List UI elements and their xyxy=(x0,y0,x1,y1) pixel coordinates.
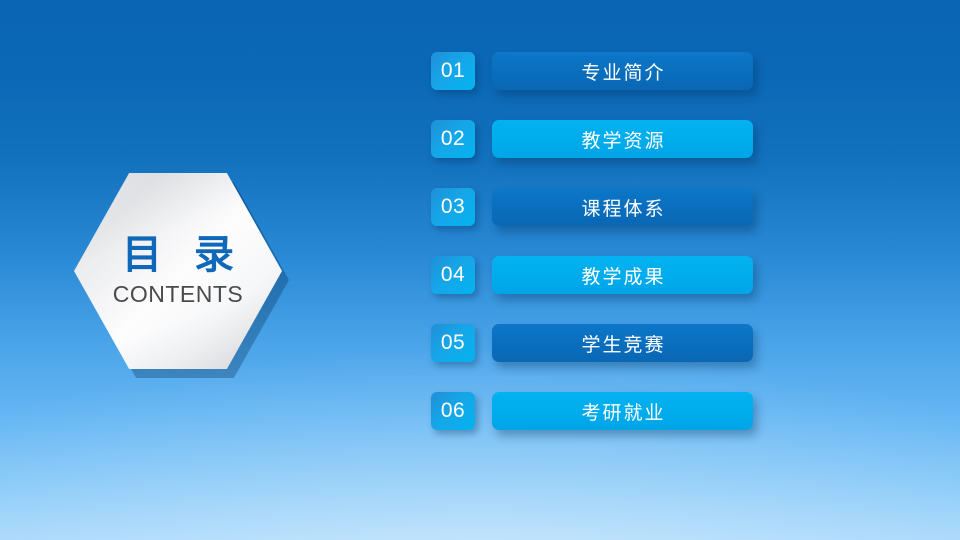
slide-canvas: 目 录 CONTENTS 01 专业简介 02 教学资源 03 课程体系 04 … xyxy=(0,0,960,540)
toc-row[interactable]: 06 考研就业 xyxy=(431,392,761,430)
hexagon-text-group: 目 录 CONTENTS xyxy=(74,170,282,372)
toc-number-badge[interactable]: 04 xyxy=(431,256,475,294)
toc-number-badge[interactable]: 06 xyxy=(431,392,475,430)
toc-number-badge[interactable]: 02 xyxy=(431,120,475,158)
contents-title-cn: 目 录 xyxy=(113,234,243,276)
toc-item-bar[interactable]: 教学资源 xyxy=(492,120,753,158)
toc-row[interactable]: 02 教学资源 xyxy=(431,120,761,158)
contents-title-en: CONTENTS xyxy=(113,282,244,307)
toc-item-bar[interactable]: 学生竞赛 xyxy=(492,324,753,362)
toc-item-bar[interactable]: 课程体系 xyxy=(492,188,753,226)
toc-item-bar[interactable]: 教学成果 xyxy=(492,256,753,294)
toc-row[interactable]: 01 专业简介 xyxy=(431,52,761,90)
toc-row[interactable]: 04 教学成果 xyxy=(431,256,761,294)
toc-number-badge[interactable]: 05 xyxy=(431,324,475,362)
contents-hexagon-badge: 目 录 CONTENTS xyxy=(74,170,282,372)
toc-row[interactable]: 03 课程体系 xyxy=(431,188,761,226)
toc-item-bar[interactable]: 考研就业 xyxy=(492,392,753,430)
toc-row[interactable]: 05 学生竞赛 xyxy=(431,324,761,362)
toc-number-badge[interactable]: 01 xyxy=(431,52,475,90)
toc-item-bar[interactable]: 专业简介 xyxy=(492,52,753,90)
toc-number-badge[interactable]: 03 xyxy=(431,188,475,226)
table-of-contents-list: 01 专业简介 02 教学资源 03 课程体系 04 教学成果 05 学生竞赛 … xyxy=(431,52,761,430)
